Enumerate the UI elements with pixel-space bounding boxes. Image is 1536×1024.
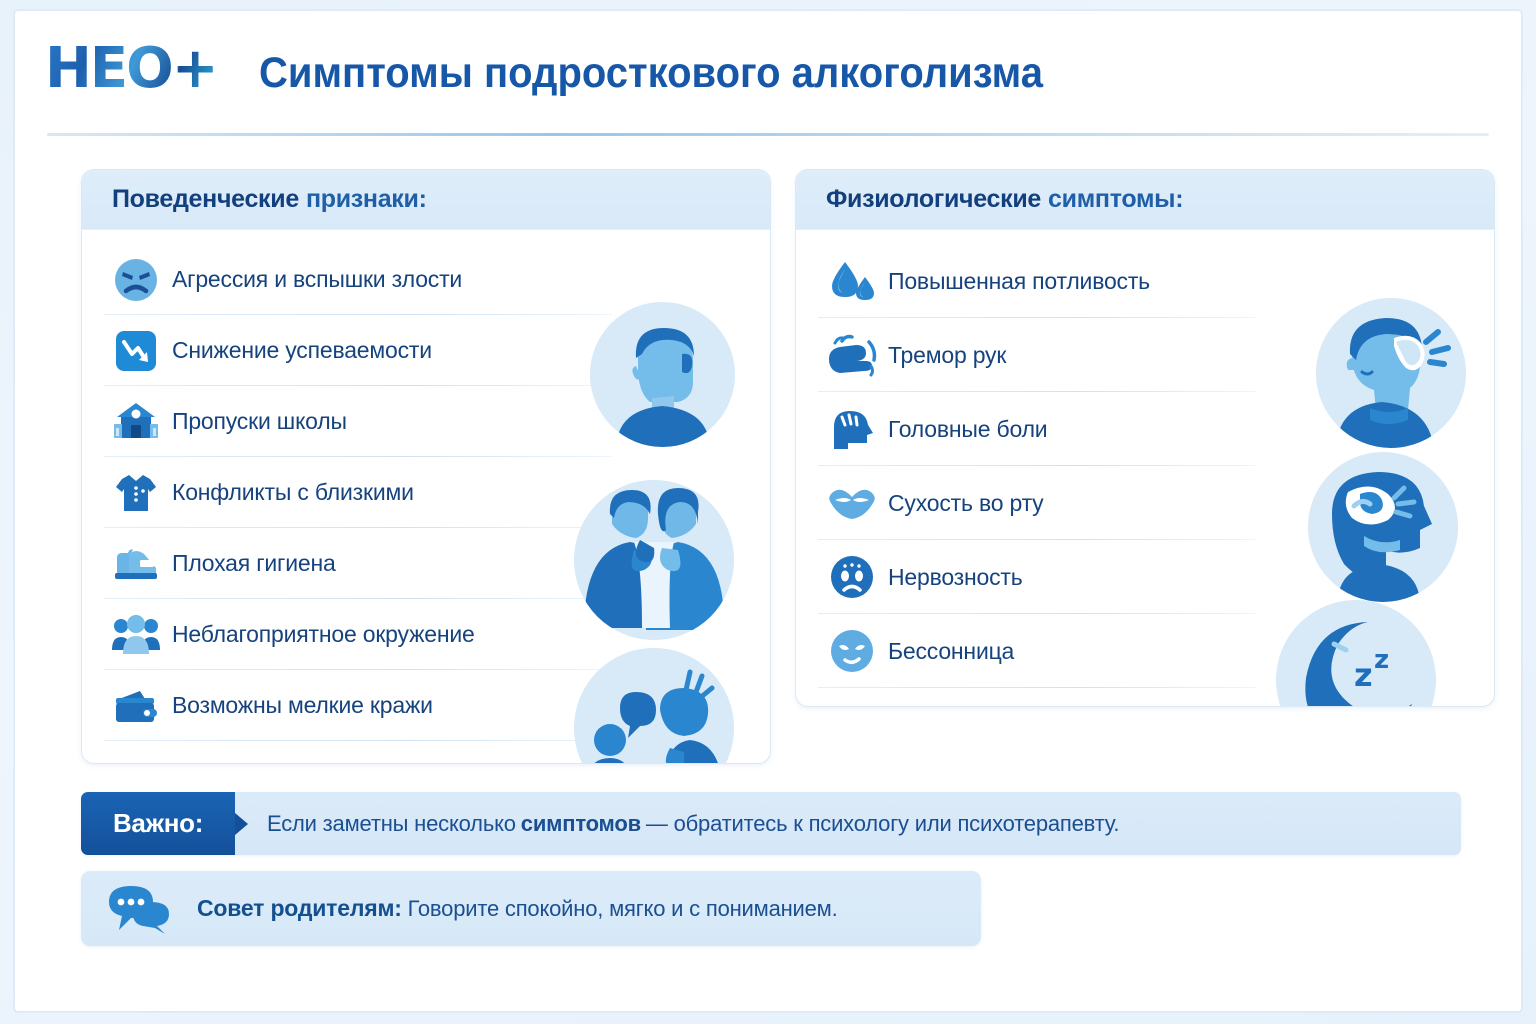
advice-banner: Совет родителям: Говорите спокойно, мягк…: [81, 871, 981, 946]
list-item-label: Возможны мелкие кражи: [172, 692, 433, 719]
list-item-label: Повышенная потливость: [888, 268, 1150, 295]
declining-chart-icon: [108, 325, 164, 377]
row-divider: [104, 740, 612, 741]
important-text: Если заметны несколько симптомов — обрат…: [235, 792, 1119, 855]
list-item-label: Снижение успеваемости: [172, 337, 432, 364]
behavioral-heading-rest: признаки:: [306, 185, 427, 214]
behavioral-panel-header: Поведенческие признаки:: [82, 170, 770, 230]
important-text-after: — обратитесь к психологу или психотерапе…: [646, 811, 1119, 837]
advice-title: Совет родителям:: [197, 895, 402, 921]
list-item-label: Агрессия и вспышки злости: [172, 266, 462, 293]
page-header: НЕО+ Симптомы подросткового алкоголизма: [45, 35, 1491, 125]
headache-person-illustration: [1316, 298, 1466, 448]
row-divider: [818, 687, 1256, 688]
infographic-page: НЕО+ Симптомы подросткового алкоголизма …: [0, 0, 1536, 1024]
speech-bubbles-icon: [107, 882, 179, 936]
lips-icon: [824, 477, 880, 529]
shaking-hand-icon: [824, 329, 880, 381]
list-item-label: Конфликты с близкими: [172, 479, 414, 506]
school-building-icon: [108, 396, 164, 448]
behavioral-panel-body: Агрессия и вспышки злости Снижение успев…: [82, 230, 770, 763]
list-item-label: Неблагоприятное окружение: [172, 621, 475, 648]
neo-plus-logo: НЕО+: [45, 41, 217, 97]
content-sheet: НЕО+ Симптомы подросткового алкоголизма …: [14, 10, 1522, 1012]
physiological-heading-rest: симптомы:: [1048, 185, 1183, 214]
important-text-bold: симптомов: [521, 811, 641, 837]
behavioral-heading-strong: Поведенческие: [112, 185, 299, 214]
physiological-panel-body: Повышенная потливость Тремор рук: [796, 230, 1494, 706]
svg-text:z: z: [1354, 656, 1373, 694]
tshirt-icon: [108, 467, 164, 519]
angry-face-icon: [108, 254, 164, 306]
important-banner: Важно: Если заметны несколько симптомов …: [81, 792, 1461, 855]
svg-text:z: z: [1374, 645, 1389, 675]
brain-pain-head-illustration: [1308, 452, 1458, 602]
wallet-icon: [108, 680, 164, 732]
list-item-label: Нервозность: [888, 564, 1023, 591]
teen-portrait-illustration: [590, 302, 735, 447]
behavioral-panel: Поведенческие признаки: Агрессия и вспыш…: [81, 169, 771, 764]
list-item-label: Тремор рук: [888, 342, 1006, 369]
chevron-right-icon: [235, 813, 248, 835]
advice-text: Совет родителям: Говорите спокойно, мягк…: [197, 895, 838, 922]
list-item-label: Пропуски школы: [172, 408, 347, 435]
sleepless-face-icon: [824, 625, 880, 677]
water-drops-icon: [824, 255, 880, 307]
list-item-label: Плохая гигиена: [172, 550, 336, 577]
important-text-before: Если заметны несколько: [267, 811, 516, 837]
hygiene-bag-icon: [108, 538, 164, 590]
list-item-label: Бессонница: [888, 638, 1014, 665]
physiological-panel: Физиологические симптомы: Повышенная пот…: [795, 169, 1495, 707]
group-of-people-icon: [108, 609, 164, 661]
list-item-label: Сухость во рту: [888, 490, 1043, 517]
physiological-panel-header: Физиологические симптомы:: [796, 170, 1494, 230]
head-pain-icon: [824, 403, 880, 455]
important-tab-label: Важно:: [113, 808, 203, 839]
important-tab: Важно:: [81, 792, 235, 855]
list-item-label: Головные боли: [888, 416, 1047, 443]
physiological-heading-strong: Физиологические: [826, 185, 1041, 214]
page-title: Симптомы подросткового алкоголизма: [259, 49, 1043, 98]
header-divider: [47, 133, 1489, 136]
worried-face-icon: [824, 551, 880, 603]
arguing-couple-illustration: [574, 480, 734, 640]
advice-body: Говорите спокойно, мягко и с пониманием.: [408, 896, 838, 921]
